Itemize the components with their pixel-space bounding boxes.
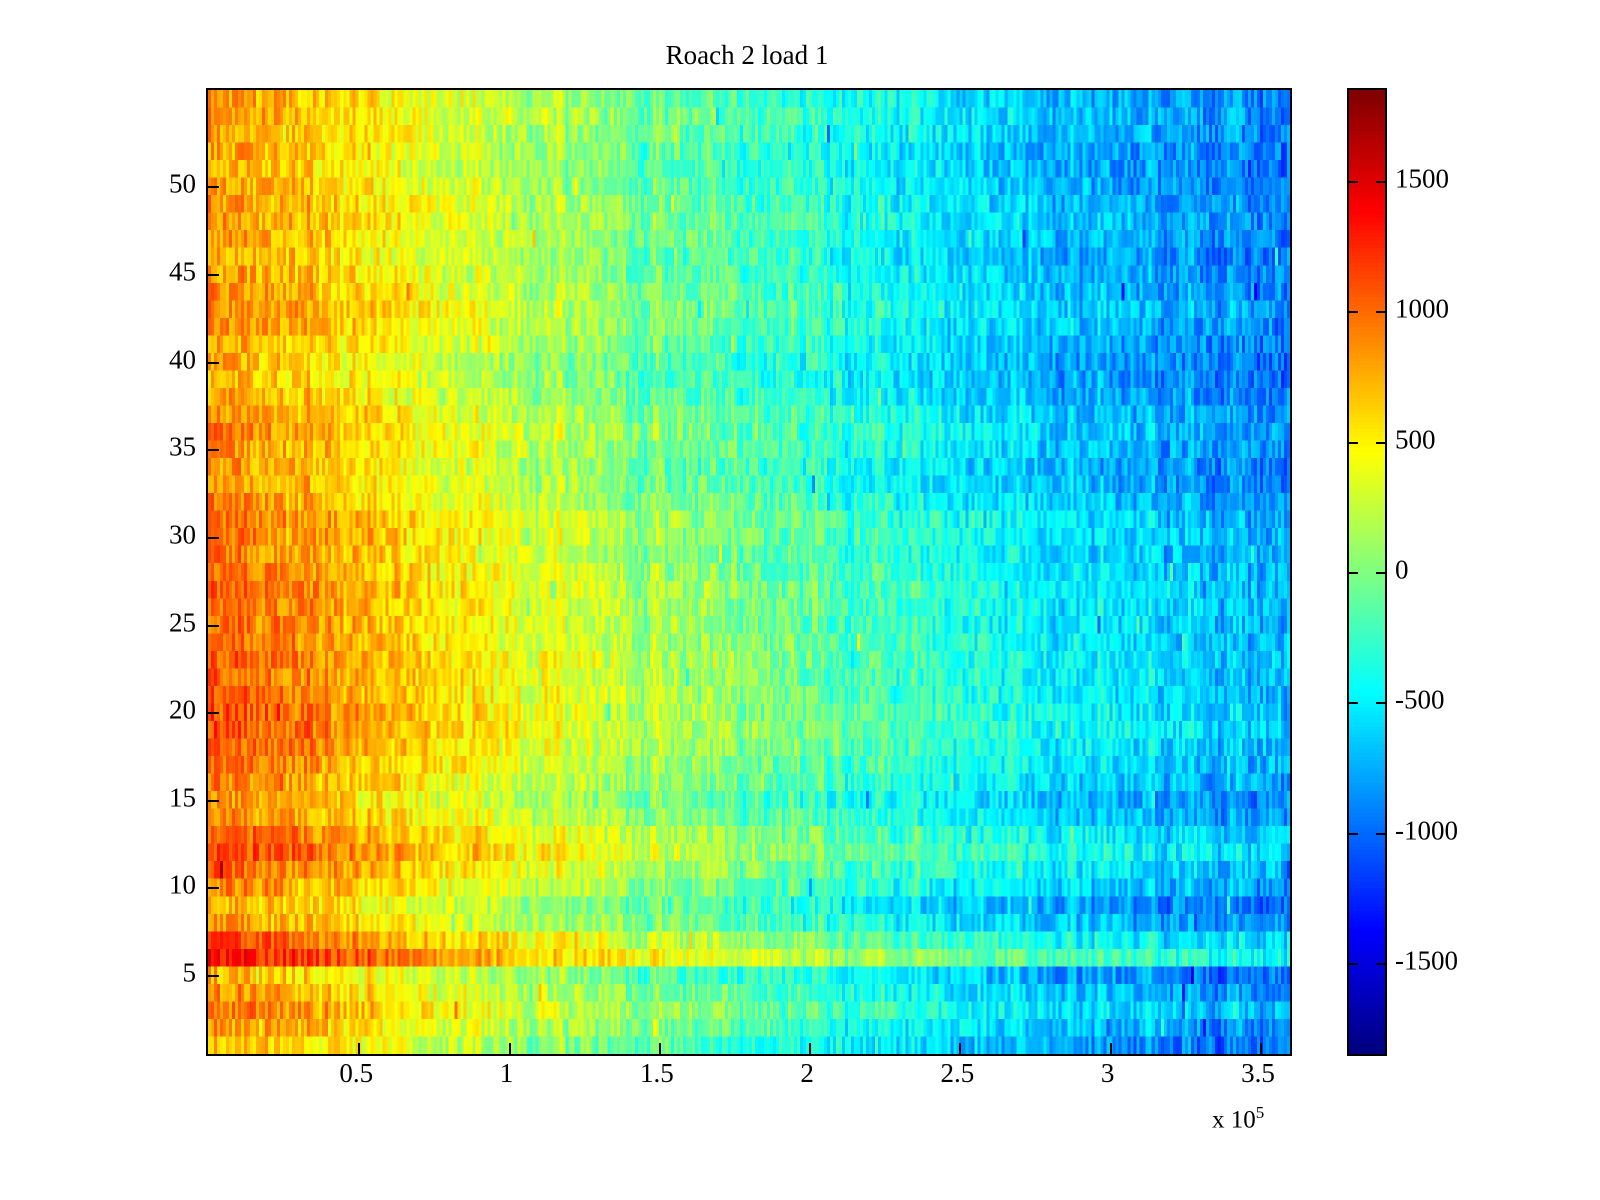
colorbar <box>1347 88 1387 1056</box>
colorbar-tick-mark <box>1376 833 1385 835</box>
x-tick-label: 1.5 <box>640 1060 674 1087</box>
y-tick-mark <box>208 274 219 276</box>
y-tick-label: 20 <box>169 697 196 724</box>
y-tick-mark <box>208 362 219 364</box>
y-tick-label: 5 <box>183 960 197 987</box>
x-exponent-mantissa: x 10 <box>1212 1106 1256 1133</box>
x-tick-mark <box>509 1043 511 1054</box>
y-tick-mark <box>208 712 219 714</box>
colorbar-tick-mark <box>1376 572 1385 574</box>
colorbar-tick-mark <box>1349 181 1358 183</box>
y-tick-label: 45 <box>169 259 196 286</box>
x-axis-exponent-label: x 105 <box>1212 1104 1264 1132</box>
colorbar-tick-label: -1500 <box>1395 947 1458 974</box>
y-tick-mark <box>208 800 219 802</box>
y-tick-label: 10 <box>169 872 196 899</box>
x-tick-mark <box>1110 1043 1112 1054</box>
x-tick-label: 3 <box>1101 1060 1115 1087</box>
y-tick-mark <box>208 449 219 451</box>
heatmap-axes <box>206 88 1292 1056</box>
colorbar-tick-label: 500 <box>1395 426 1436 453</box>
x-tick-mark <box>659 1043 661 1054</box>
colorbar-tick-label: -1000 <box>1395 817 1458 844</box>
y-tick-mark <box>208 186 219 188</box>
x-tick-label: 2.5 <box>941 1060 975 1087</box>
x-tick-mark <box>1260 1043 1262 1054</box>
y-tick-label: 15 <box>169 784 196 811</box>
y-tick-label: 25 <box>169 609 196 636</box>
x-tick-label: 2 <box>800 1060 814 1087</box>
colorbar-tick-mark <box>1349 963 1358 965</box>
colorbar-tick-mark <box>1376 311 1385 313</box>
colorbar-tick-label: 1000 <box>1395 296 1449 323</box>
page-title: Roach 2 load 1 <box>206 42 1288 69</box>
colorbar-tick-mark <box>1376 181 1385 183</box>
colorbar-tick-mark <box>1349 833 1358 835</box>
y-tick-label: 40 <box>169 346 196 373</box>
colorbar-tick-label: -500 <box>1395 687 1445 714</box>
y-tick-mark <box>208 975 219 977</box>
x-exponent-power: 5 <box>1256 1103 1265 1122</box>
colorbar-tick-mark <box>1376 963 1385 965</box>
colorbar-tick-mark <box>1376 442 1385 444</box>
colorbar-tick-mark <box>1349 311 1358 313</box>
colorbar-tick-label: 1500 <box>1395 166 1449 193</box>
y-tick-label: 35 <box>169 434 196 461</box>
x-tick-mark <box>809 1043 811 1054</box>
x-tick-mark <box>959 1043 961 1054</box>
x-tick-label: 0.5 <box>339 1060 373 1087</box>
figure-canvas: Roach 2 load 1 5101520253035404550 0.511… <box>0 0 1600 1200</box>
colorbar-tick-mark <box>1349 572 1358 574</box>
y-tick-mark <box>208 537 219 539</box>
x-tick-mark <box>358 1043 360 1054</box>
x-tick-label: 1 <box>500 1060 514 1087</box>
colorbar-tick-mark <box>1376 702 1385 704</box>
y-tick-mark <box>208 887 219 889</box>
y-tick-label: 30 <box>169 521 196 548</box>
heatmap-image <box>208 90 1290 1054</box>
colorbar-tick-mark <box>1349 442 1358 444</box>
y-tick-mark <box>208 625 219 627</box>
colorbar-tick-label: 0 <box>1395 557 1409 584</box>
x-tick-label: 3.5 <box>1241 1060 1275 1087</box>
y-tick-label: 50 <box>169 171 196 198</box>
colorbar-tick-mark <box>1349 702 1358 704</box>
